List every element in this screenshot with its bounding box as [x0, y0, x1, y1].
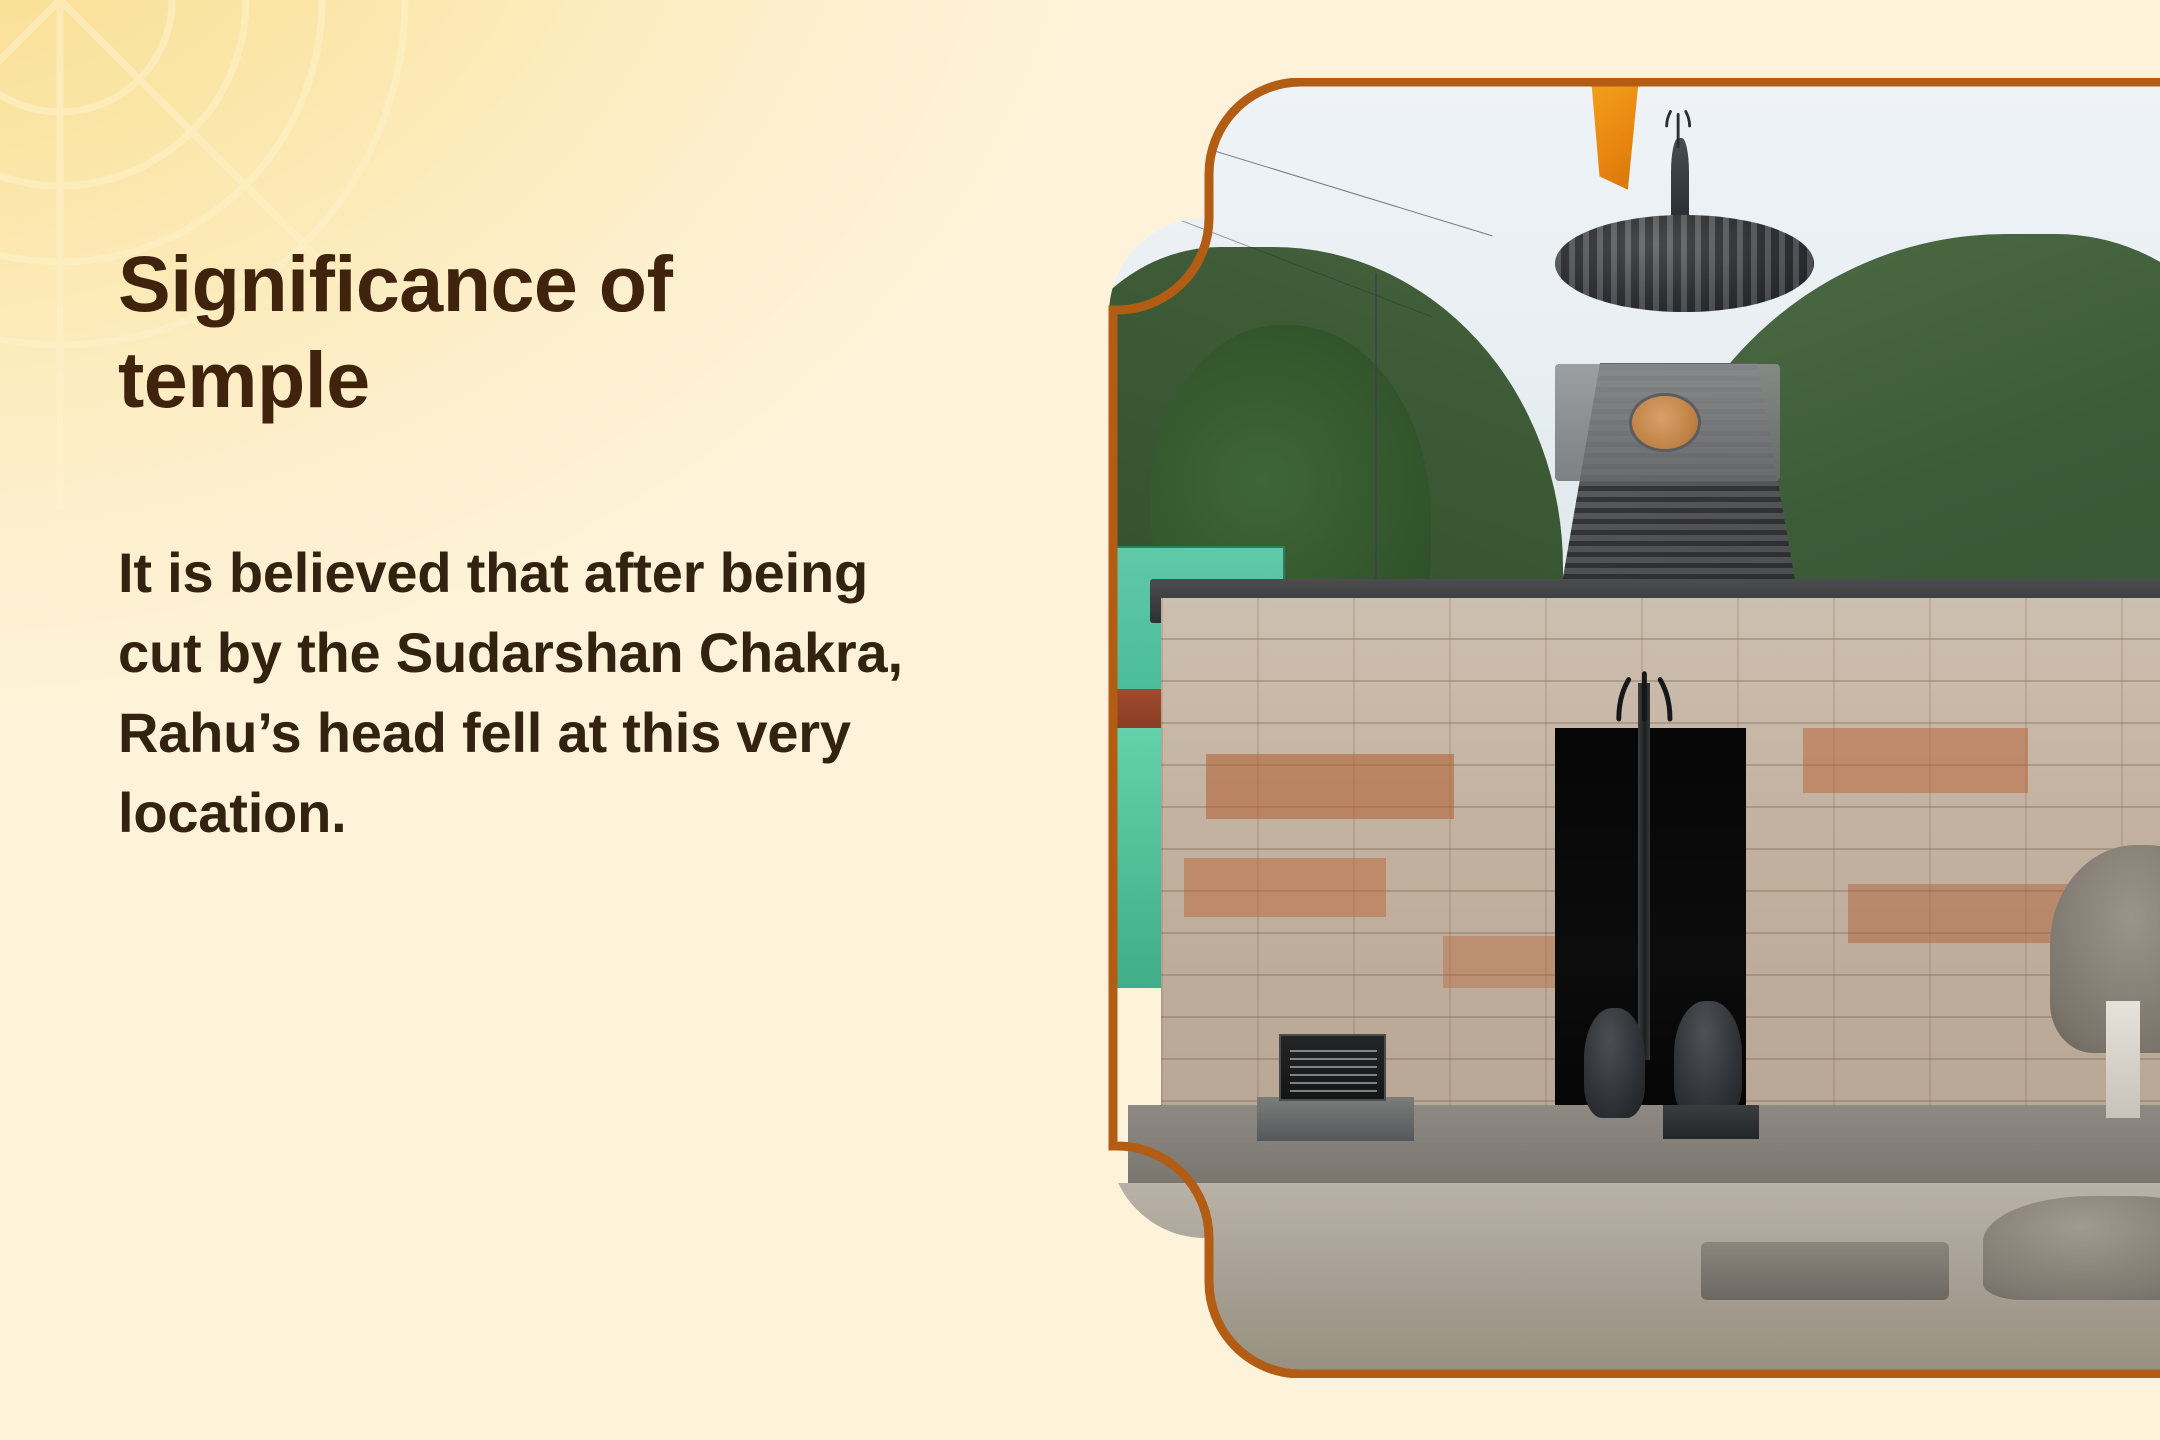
kalash-finial	[1671, 138, 1689, 224]
stone-slab	[1701, 1242, 1949, 1301]
nandi-statue	[1674, 1001, 1742, 1118]
amalaka-ribs	[1555, 215, 1814, 313]
stone-slab	[1983, 1196, 2160, 1300]
body-paragraph: It is believed that after being cut by t…	[118, 533, 958, 853]
nandi-statue	[1584, 1008, 1645, 1119]
plaque-inscription-lines	[1290, 1048, 1378, 1092]
temple-photo	[1105, 78, 2160, 1378]
plaque-base	[1257, 1097, 1415, 1141]
slide-canvas: Significance of temple It is believed th…	[0, 0, 2160, 1440]
temple-photo-frame	[1105, 78, 2160, 1378]
nandi-pedestal	[1663, 1105, 1759, 1139]
kirtimukha-face-medallion	[1629, 393, 1701, 453]
trishul-icon	[1605, 658, 1684, 731]
text-column: Significance of temple It is believed th…	[118, 236, 978, 853]
page-title: Significance of temple	[118, 236, 818, 429]
red-brick	[1206, 754, 1454, 819]
white-post	[2106, 1001, 2140, 1118]
trishul-staff	[1638, 683, 1649, 1060]
red-brick	[1184, 858, 1387, 917]
trishul-finial-icon	[1659, 107, 1697, 149]
red-brick	[1803, 728, 2028, 793]
